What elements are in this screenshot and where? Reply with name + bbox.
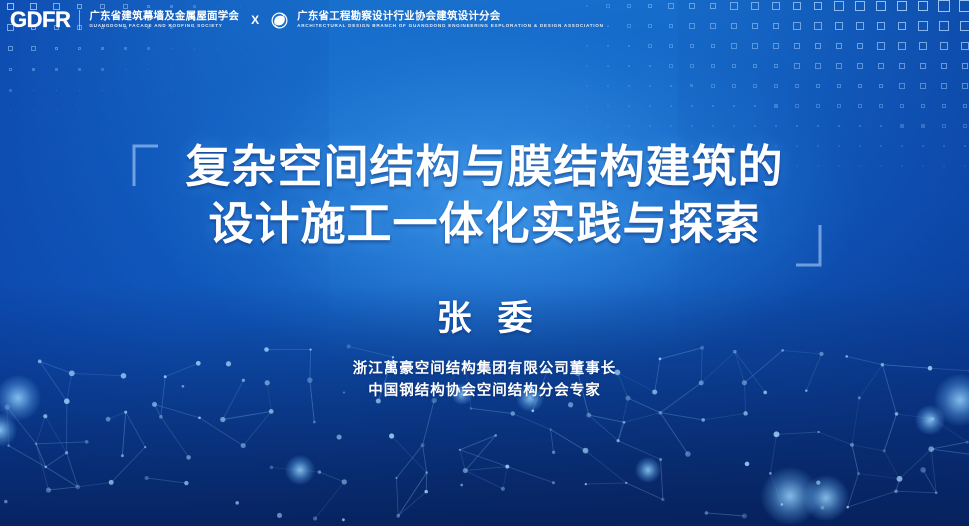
- primary-society-name-cn: 广东省建筑幕墙及金属屋面学会: [89, 11, 239, 23]
- slide-title: 复杂空间结构与膜结构建筑的 设计施工一体化实践与探索: [0, 138, 969, 252]
- swirl-circle-icon: [271, 12, 288, 29]
- credential-line-1: 浙江萬豪空间结构集团有限公司董事长: [0, 358, 969, 380]
- logo-separator-x: X: [251, 13, 259, 27]
- speaker-credentials: 浙江萬豪空间结构集团有限公司董事长 中国钢结构协会空间结构分会专家: [0, 358, 969, 402]
- presentation-slide: GDFR 广东省建筑幕墙及金属屋面学会 GUANGDONG FACADE AND…: [0, 0, 969, 526]
- secondary-society-name-cn: 广东省工程勘察设计行业协会建筑设计分会: [297, 11, 604, 23]
- primary-society-name-en: GUANGDONG FACADE AND ROOFING SOCIETY: [89, 23, 239, 29]
- logo-bar: GDFR 广东省建筑幕墙及金属屋面学会 GUANGDONG FACADE AND…: [10, 7, 604, 33]
- credential-line-2: 中国钢结构协会空间结构分会专家: [0, 380, 969, 402]
- secondary-society-name: 广东省工程勘察设计行业协会建筑设计分会 ARCHITECTURAL DESIGN…: [297, 11, 604, 28]
- title-line-1: 复杂空间结构与膜结构建筑的: [0, 138, 969, 195]
- title-line-2: 设计施工一体化实践与探索: [0, 195, 969, 252]
- logo-divider: [79, 10, 80, 30]
- speaker-name: 张委: [0, 297, 969, 341]
- secondary-society-name-en: ARCHITECTURAL DESIGN BRANCH OF GUANGDONG…: [297, 23, 604, 29]
- primary-society-name: 广东省建筑幕墙及金属屋面学会 GUANGDONG FACADE AND ROOF…: [89, 11, 239, 28]
- gdfr-logo-mark: GDFR: [10, 9, 70, 31]
